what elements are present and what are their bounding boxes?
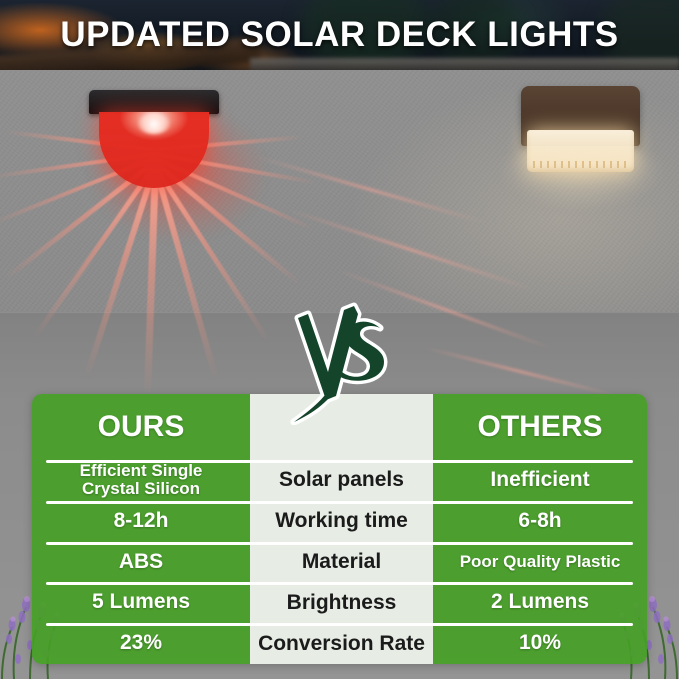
cell-feature-conversion-rate: Conversion Rate: [250, 623, 433, 664]
table-row: ABS Material Poor Quality Plastic: [32, 542, 647, 583]
cell-feature-material: Material: [250, 542, 433, 583]
row-divider: [46, 460, 633, 463]
cell-ours-brightness: 5 Lumens: [32, 582, 250, 623]
infographic-canvas: UPDATED SOLAR DECK LIGHTS: [0, 0, 679, 679]
table-rows: OURS OTHERS Efficient SingleCrystal Sili…: [32, 394, 647, 664]
cell-ours-material: ABS: [32, 542, 250, 583]
cell-others-material: Poor Quality Plastic: [433, 542, 647, 583]
cell-feature-brightness: Brightness: [250, 582, 433, 623]
warm-light-spill: [466, 156, 679, 276]
lamp-lens: [527, 130, 634, 172]
vs-logo: [288, 300, 398, 425]
competitor-deck-light: [521, 86, 640, 172]
comparison-table: OURS OTHERS Efficient SingleCrystal Sili…: [32, 394, 647, 664]
cell-ours-solar-panels: Efficient SingleCrystal Silicon: [32, 460, 250, 501]
cell-feature-solar-panels: Solar panels: [250, 460, 433, 501]
cell-feature-working-time: Working time: [250, 501, 433, 542]
cell-others-conversion-rate: 10%: [433, 623, 647, 664]
cell-others-solar-panels: Inefficient: [433, 460, 647, 501]
table-row: Efficient SingleCrystal Silicon Solar pa…: [32, 460, 647, 501]
header-ours: OURS: [32, 394, 250, 460]
table-row: 23% Conversion Rate 10%: [32, 623, 647, 664]
table-row: 5 Lumens Brightness 2 Lumens: [32, 582, 647, 623]
header-others: OTHERS: [433, 394, 647, 460]
row-divider: [46, 582, 633, 585]
row-divider: [46, 623, 633, 626]
header-banner: UPDATED SOLAR DECK LIGHTS: [0, 0, 679, 70]
page-title: UPDATED SOLAR DECK LIGHTS: [0, 0, 679, 70]
cell-ours-conversion-rate: 23%: [32, 623, 250, 664]
row-divider: [46, 501, 633, 504]
row-divider: [46, 542, 633, 545]
cell-others-working-time: 6-8h: [433, 501, 647, 542]
cell-ours-working-time: 8-12h: [32, 501, 250, 542]
cell-others-brightness: 2 Lumens: [433, 582, 647, 623]
table-row: 8-12h Working time 6-8h: [32, 501, 647, 542]
led-hotspot: [138, 114, 170, 134]
our-solar-deck-light: [89, 90, 219, 200]
solar-panel-cap: [89, 90, 219, 114]
